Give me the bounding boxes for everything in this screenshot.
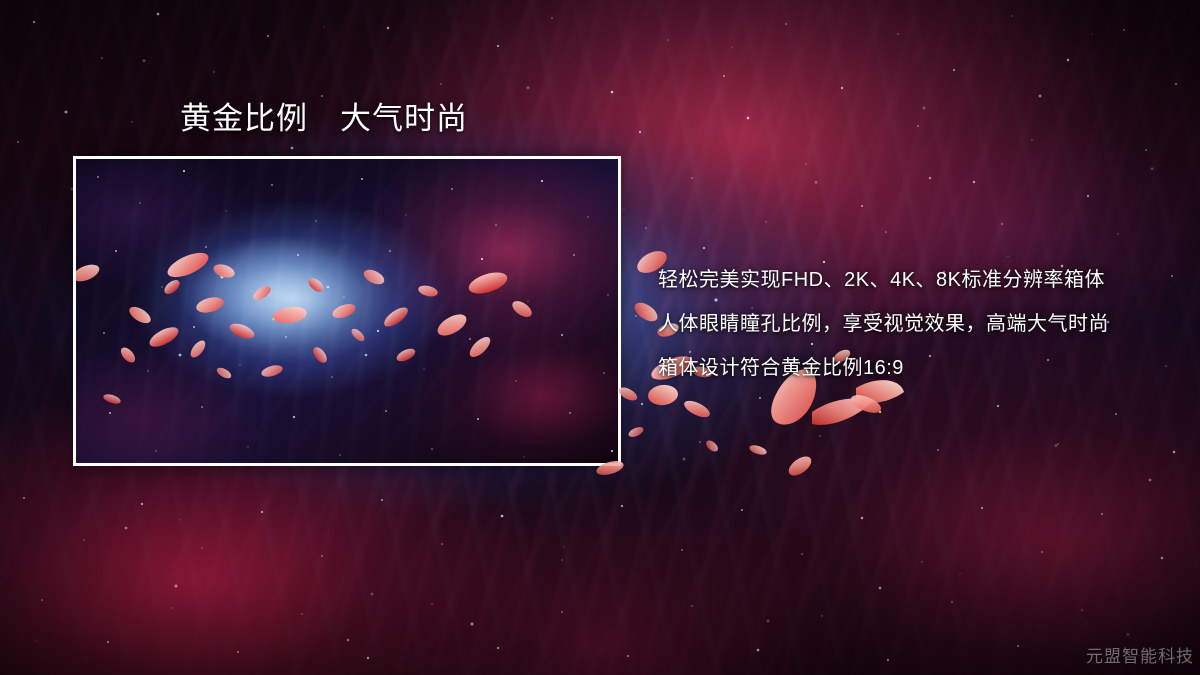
presentation-slide: 黄金比例 大气时尚	[0, 0, 1200, 675]
body-text-block: 轻松完美实现FHD、2K、4K、8K标准分辨率箱体 人体眼睛瞳孔比例，享受视觉效…	[658, 258, 1178, 390]
body-line-2: 人体眼睛瞳孔比例，享受视觉效果，高端大气时尚	[658, 302, 1178, 346]
framed-photo	[73, 156, 621, 466]
photo-starfield	[76, 159, 621, 466]
page-title: 黄金比例 大气时尚	[180, 100, 468, 139]
body-line-1: 轻松完美实现FHD、2K、4K、8K标准分辨率箱体	[658, 258, 1178, 302]
watermark-brand: 元盟智能科技	[1086, 642, 1194, 667]
body-line-3: 箱体设计符合黄金比例16:9	[658, 346, 1178, 390]
